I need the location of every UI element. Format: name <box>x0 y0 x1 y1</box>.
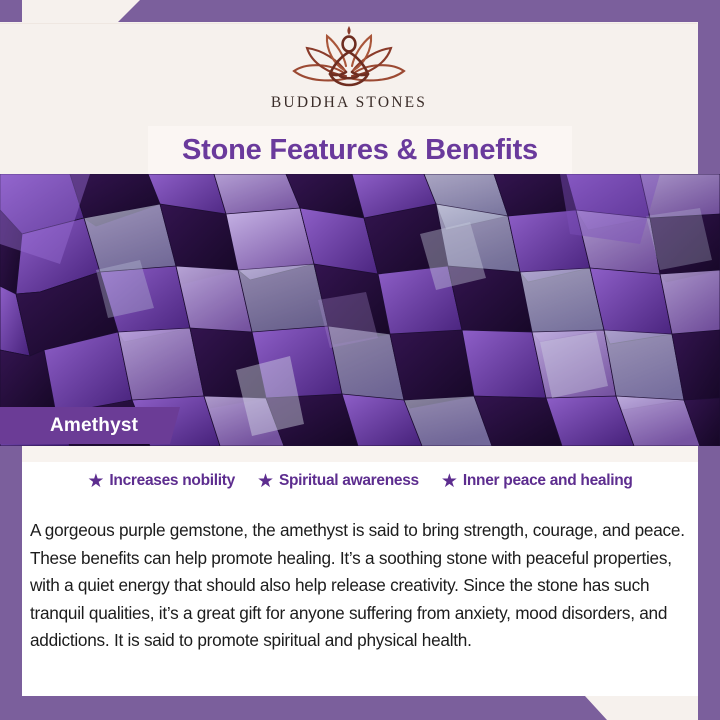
page-title-plate: Stone Features & Benefits <box>148 126 572 174</box>
brand-name: BUDDHA STONES <box>271 94 427 112</box>
benefit-item-3: ★ Inner peace and healing <box>441 472 633 490</box>
stone-name-ribbon: Amethyst <box>0 407 180 444</box>
frame-bottom-band <box>0 696 720 720</box>
frame-top-band <box>0 0 720 22</box>
lotus-meditation-icon <box>274 26 424 92</box>
star-icon: ★ <box>441 473 458 490</box>
benefits-row: ★ Increases nobility ★ Spiritual awarene… <box>22 466 698 496</box>
stone-description: A gorgeous purple gemstone, the amethyst… <box>30 517 692 655</box>
star-icon: ★ <box>87 473 104 490</box>
header-hairline <box>0 23 697 24</box>
page-title: Stone Features & Benefits <box>182 134 538 167</box>
benefit-item-2: ★ Spiritual awareness <box>257 472 419 490</box>
benefit-label-3: Inner peace and healing <box>463 472 633 490</box>
stone-name: Amethyst <box>50 415 138 437</box>
benefit-item-1: ★ Increases nobility <box>87 472 235 490</box>
brand-logo: BUDDHA STONES <box>0 26 698 126</box>
star-icon: ★ <box>257 473 274 490</box>
benefit-label-1: Increases nobility <box>109 472 235 490</box>
hero-image <box>0 174 720 446</box>
product-info-card: BUDDHA STONES Stone Features & Benefits <box>0 0 720 720</box>
content-panel-top-tint <box>22 446 698 462</box>
content-panel-bottom-filler <box>22 668 698 696</box>
benefit-label-2: Spiritual awareness <box>279 472 419 490</box>
